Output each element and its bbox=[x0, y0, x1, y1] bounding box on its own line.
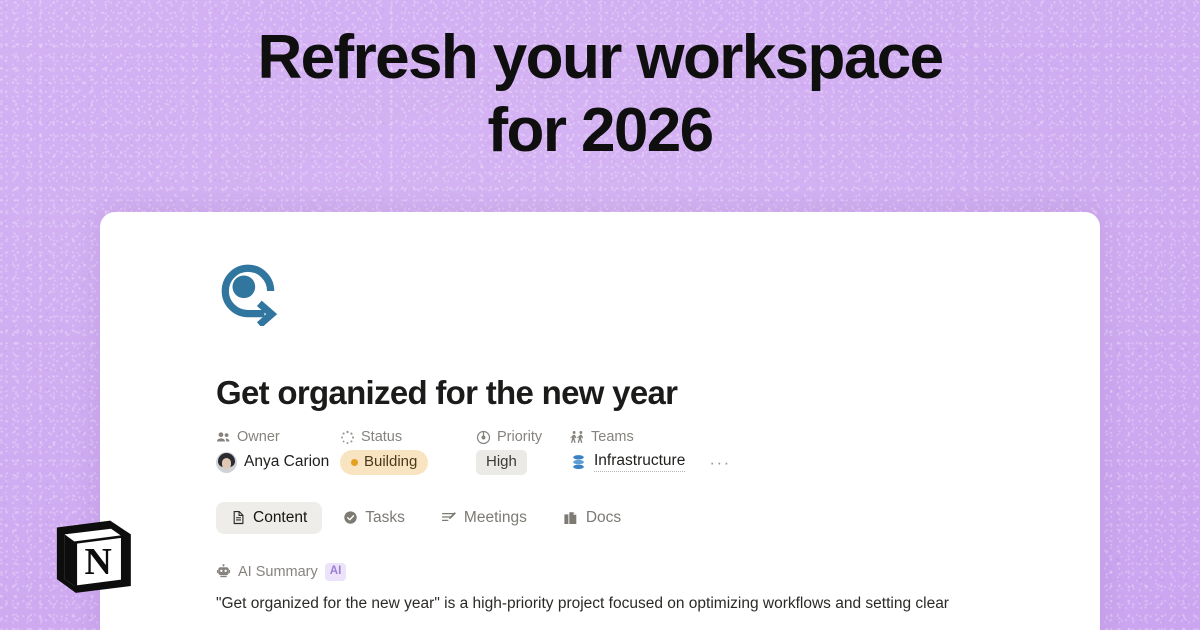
tab-docs[interactable]: Docs bbox=[548, 502, 636, 534]
ai-badge: AI bbox=[325, 563, 347, 581]
people-icon bbox=[216, 430, 231, 445]
robot-icon bbox=[216, 564, 231, 579]
target-icon bbox=[476, 430, 491, 445]
ai-summary-body: "Get organized for the new year" is a hi… bbox=[216, 592, 956, 616]
tab-docs-label: Docs bbox=[586, 509, 621, 527]
notes-pencil-icon bbox=[441, 510, 457, 526]
property-label-teams: Teams bbox=[570, 429, 816, 445]
tab-tasks-label: Tasks bbox=[365, 509, 405, 527]
tab-content-label: Content bbox=[253, 509, 307, 527]
app-logo bbox=[216, 260, 1100, 326]
headline-line-1: Refresh your workspace bbox=[0, 22, 1200, 95]
notion-logo: N bbox=[50, 512, 136, 598]
tab-meetings-label: Meetings bbox=[464, 509, 527, 527]
property-value-owner[interactable]: Anya Carion bbox=[216, 452, 340, 473]
property-label-priority-text: Priority bbox=[497, 429, 542, 445]
property-label-status-text: Status bbox=[361, 429, 402, 445]
property-label-teams-text: Teams bbox=[591, 429, 634, 445]
database-stack-icon bbox=[570, 454, 587, 471]
tab-meetings[interactable]: Meetings bbox=[426, 502, 542, 534]
property-value-priority[interactable]: High bbox=[476, 450, 570, 475]
property-label-owner-text: Owner bbox=[237, 429, 280, 445]
team-icon bbox=[570, 430, 585, 445]
headline: Refresh your workspace for 2026 bbox=[0, 22, 1200, 167]
tab-bar: Content Tasks Meetings bbox=[216, 502, 1100, 534]
property-label-status: Status bbox=[340, 429, 476, 445]
page-title: Get organized for the new year bbox=[216, 374, 1100, 412]
tab-tasks[interactable]: Tasks bbox=[328, 502, 420, 534]
circular-arrow-target-icon bbox=[216, 260, 282, 326]
property-label-priority: Priority bbox=[476, 429, 570, 445]
product-screenshot-card: Get organized for the new year Owner bbox=[100, 212, 1100, 630]
priority-badge[interactable]: High bbox=[476, 450, 527, 475]
status-badge[interactable]: Building bbox=[340, 450, 428, 475]
property-value-teams[interactable]: Infrastructure ··· bbox=[570, 452, 816, 472]
headline-line-2: for 2026 bbox=[0, 95, 1200, 168]
ai-summary-label: AI Summary bbox=[238, 564, 318, 580]
priority-badge-text: High bbox=[486, 453, 517, 472]
ai-summary-header: AI Summary AI bbox=[216, 563, 1100, 581]
more-options-button[interactable]: ··· bbox=[709, 454, 730, 471]
document-icon bbox=[231, 510, 246, 525]
status-badge-text: Building bbox=[364, 453, 417, 472]
og-image-root: Refresh your workspace for 2026 Get orga… bbox=[0, 0, 1200, 630]
status-dot-icon bbox=[351, 459, 358, 466]
spinner-icon bbox=[340, 430, 355, 445]
avatar bbox=[216, 452, 237, 473]
property-value-status[interactable]: Building bbox=[340, 450, 476, 475]
team-link[interactable]: Infrastructure bbox=[594, 452, 685, 472]
property-label-owner: Owner bbox=[216, 429, 340, 445]
docs-stack-icon bbox=[563, 510, 579, 526]
check-circle-icon bbox=[343, 510, 358, 525]
notion-logo-letter: N bbox=[84, 541, 111, 583]
property-value-owner-text: Anya Carion bbox=[244, 453, 329, 471]
property-grid: Owner Status bbox=[216, 429, 816, 475]
tab-content[interactable]: Content bbox=[216, 502, 322, 534]
